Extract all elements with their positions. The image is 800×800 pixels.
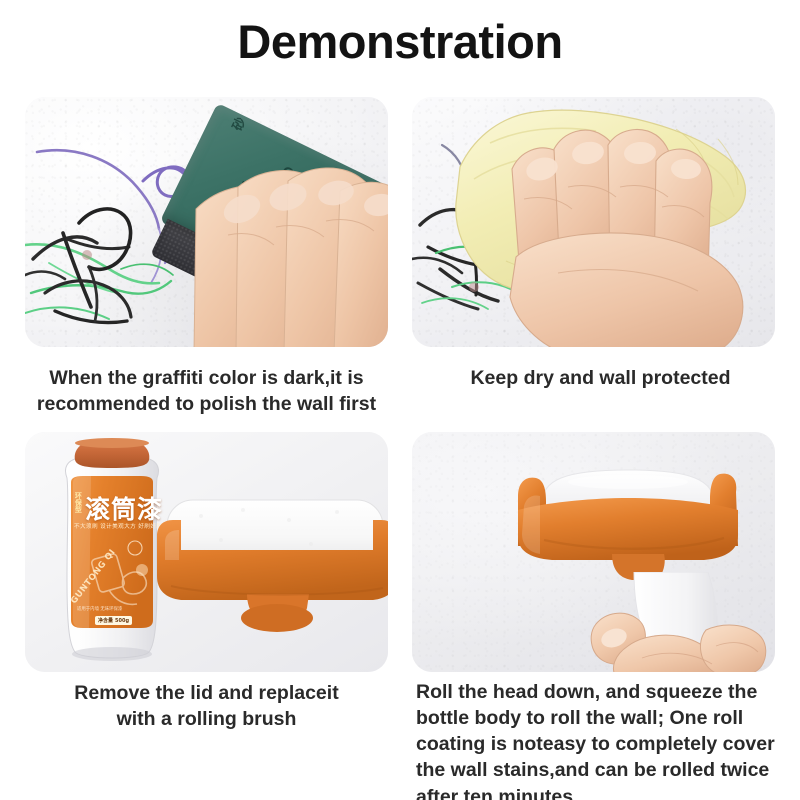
label-fine-print: 适用于内墙 无味环保漆 — [77, 606, 122, 612]
caption-line: after ten minutes — [416, 784, 788, 800]
caption-line: with a rolling brush — [18, 707, 395, 733]
demo-step-3-photo: 滚筒漆 环保型 不大须刷 设计美观大方 好刷好刷好刷 美观大方实用 GUNTON… — [25, 432, 388, 672]
photo-sanding-block: 砂 纸 打 磨 QBTAOJC HS 25 — [25, 97, 388, 347]
hand-squeezing-bottle — [588, 572, 768, 672]
caption-line: Roll the head down, and squeeze the — [416, 679, 788, 705]
demo-step-1-photo: 砂 纸 打 磨 QBTAOJC HS 25 — [25, 97, 388, 347]
caption-step-3: Remove the lid and replaceit with a roll… — [18, 681, 395, 733]
demonstration-page: Demonstration — [0, 0, 800, 800]
label-weight-badge: 净含量 500g — [95, 616, 132, 625]
caption-line: When the graffiti color is dark,it is — [18, 366, 395, 392]
caption-step-1: When the graffiti color is dark,it is re… — [18, 366, 395, 418]
caption-line: bottle body to roll the wall; One roll — [416, 705, 788, 731]
badge-label: 净含量 — [98, 617, 113, 624]
caption-step-4: Roll the head down, and squeeze the bott… — [416, 679, 788, 800]
photo-bottle-and-roller: 滚筒漆 环保型 不大须刷 设计美观大方 好刷好刷好刷 美观大方实用 GUNTON… — [25, 432, 388, 672]
caption-step-2: Keep dry and wall protected — [412, 366, 789, 392]
roller-brush-on-wall — [508, 462, 748, 582]
badge-weight: 500g — [115, 618, 129, 624]
caption-line: the wall stains,and can be rolled twice — [416, 757, 788, 783]
demo-step-2-photo — [412, 97, 775, 347]
photo-cloth-wipe — [412, 97, 775, 347]
caption-line: Remove the lid and replaceit — [18, 681, 395, 707]
roller-brush-head — [151, 490, 388, 640]
hand-wiping — [498, 125, 748, 347]
hand-holding-block — [184, 135, 388, 347]
demo-step-4-photo — [412, 432, 775, 672]
page-title: Demonstration — [0, 14, 800, 69]
photo-rolling-wall — [412, 432, 775, 672]
caption-line: Keep dry and wall protected — [412, 366, 789, 392]
caption-line: recommended to polish the wall first — [18, 392, 395, 418]
caption-line: coating is noteasy to completely cover — [416, 731, 788, 757]
label-side-text: 环保型 — [74, 492, 81, 516]
